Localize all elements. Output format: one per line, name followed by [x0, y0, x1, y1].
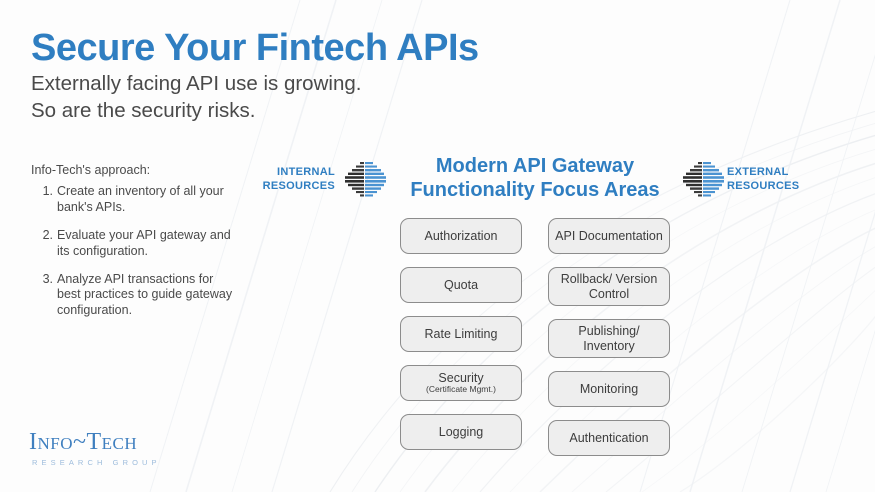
external-resources-label: EXTERNAL RESOURCES [727, 165, 827, 193]
functionality-box-label: Logging [439, 425, 484, 440]
functionality-box[interactable]: Logging [400, 414, 522, 450]
list-item-text: Analyze API transactions for best practi… [57, 272, 232, 318]
functionality-box[interactable]: Monitoring [548, 371, 670, 407]
functionality-box-label: API Documentation [555, 229, 663, 244]
list-item: 1. Create an inventory of all your bank'… [37, 184, 237, 216]
functionality-box[interactable]: Rate Limiting [400, 316, 522, 352]
functionality-box-label: Monitoring [580, 382, 638, 397]
functionality-box-label: Rate Limiting [425, 327, 498, 342]
logo-wordmark: Info~Tech [29, 430, 161, 454]
data-flow-icon [340, 160, 386, 200]
functionality-box-sublabel: (Certificate Mgmt.) [426, 385, 496, 395]
internal-resources-line-2: RESOURCES [240, 179, 335, 193]
functionality-box-label: Authentication [569, 431, 648, 446]
page-title: Secure Your Fintech APIs [31, 29, 479, 69]
functionality-box-label: Authorization [425, 229, 498, 244]
functionality-box-label: Security [438, 371, 483, 386]
functionality-box-label: Publishing/ Inventory [552, 324, 666, 353]
approach-list: 1. Create an inventory of all your bank'… [37, 184, 237, 331]
functionality-box[interactable]: Authorization [400, 218, 522, 254]
page-subtitle: Externally facing API use is growing. So… [31, 70, 361, 125]
slide-canvas: Secure Your Fintech APIs Externally faci… [0, 0, 875, 492]
internal-resources-label: INTERNAL RESOURCES [240, 165, 335, 193]
functionality-box[interactable]: Quota [400, 267, 522, 303]
external-resources-line-2: RESOURCES [727, 179, 827, 193]
functionality-box-label: Quota [444, 278, 478, 293]
list-item: 3. Analyze API transactions for best pra… [37, 272, 237, 320]
functionality-column-right: API Documentation Rollback/ Version Cont… [548, 218, 670, 469]
list-item-number: 1. [37, 184, 53, 200]
approach-intro-label: Info-Tech's approach: [31, 163, 150, 177]
list-item: 2. Evaluate your API gateway and its con… [37, 228, 237, 260]
list-item-number: 3. [37, 272, 53, 288]
functionality-box-label: Rollback/ Version Control [552, 272, 666, 301]
functionality-box[interactable]: Security (Certificate Mgmt.) [400, 365, 522, 401]
subtitle-line-1: Externally facing API use is growing. [31, 70, 361, 97]
info-tech-logo: Info~Tech RESEARCH GROUP [29, 430, 161, 467]
list-item-text: Evaluate your API gateway and its config… [57, 228, 231, 258]
diagram-heading: Modern API Gateway Functionality Focus A… [390, 155, 680, 202]
diagram-heading-line-1: Modern API Gateway [390, 155, 680, 179]
functionality-box[interactable]: Rollback/ Version Control [548, 267, 670, 306]
diagram-heading-line-2: Functionality Focus Areas [390, 179, 680, 203]
list-item-text: Create an inventory of all your bank's A… [57, 184, 224, 214]
functionality-column-left: Authorization Quota Rate Limiting Securi… [400, 218, 522, 463]
subtitle-line-2: So are the security risks. [31, 97, 361, 124]
data-flow-icon [678, 160, 724, 200]
functionality-box[interactable]: Publishing/ Inventory [548, 319, 670, 358]
logo-tagline: RESEARCH GROUP [32, 459, 161, 467]
functionality-box[interactable]: API Documentation [548, 218, 670, 254]
external-resources-line-1: EXTERNAL [727, 165, 827, 179]
list-item-number: 2. [37, 228, 53, 244]
functionality-box[interactable]: Authentication [548, 420, 670, 456]
internal-resources-line-1: INTERNAL [240, 165, 335, 179]
